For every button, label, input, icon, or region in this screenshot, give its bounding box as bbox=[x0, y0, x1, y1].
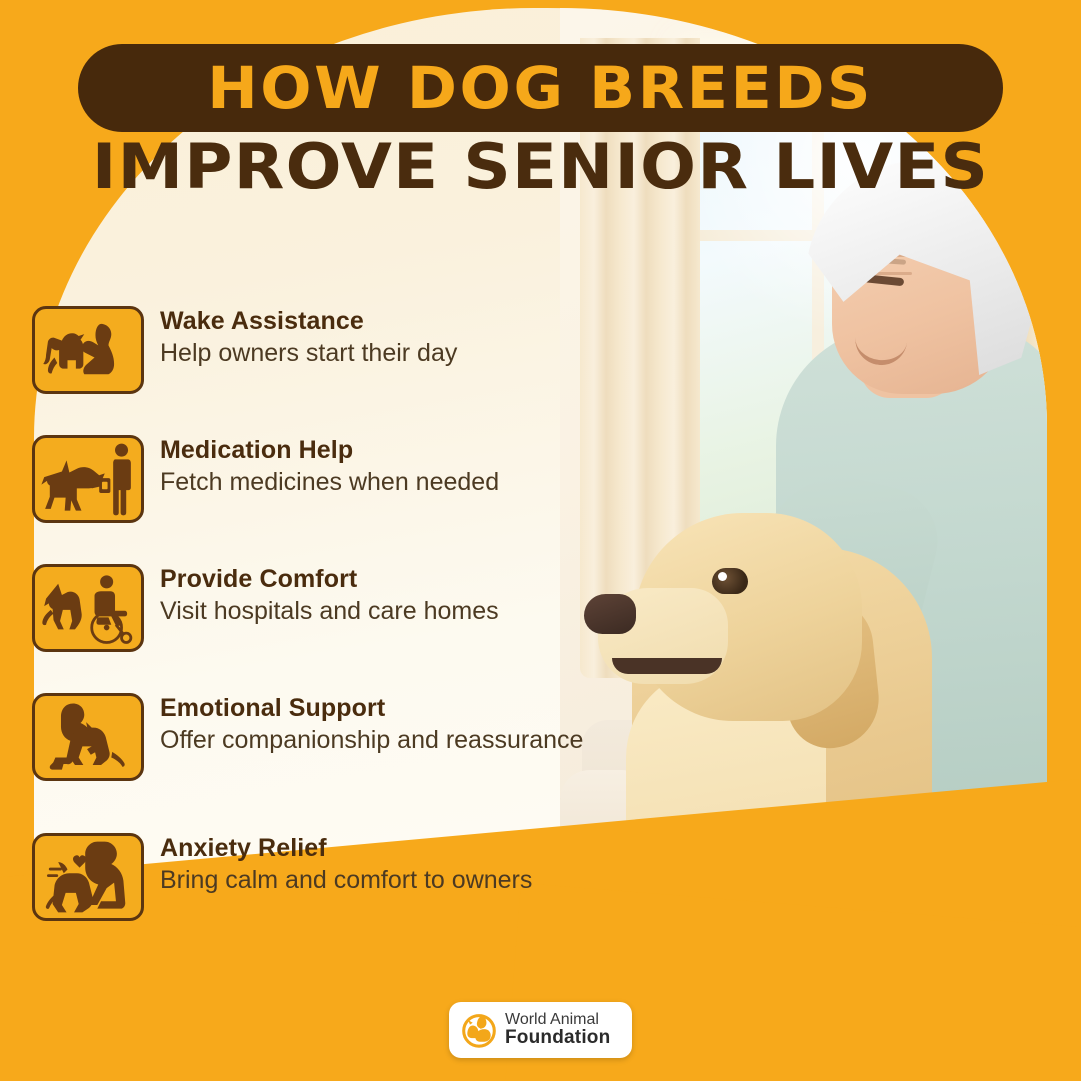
logo-text: World Animal Foundation bbox=[505, 1012, 610, 1048]
dog-fetching-medicine-icon bbox=[32, 435, 144, 523]
logo-line-2: Foundation bbox=[505, 1028, 610, 1047]
feature-description: Fetch medicines when needed bbox=[160, 468, 499, 498]
dog-eye-highlight bbox=[718, 572, 727, 581]
feature-title: Medication Help bbox=[160, 437, 499, 465]
dog-sitting-with-person-icon bbox=[32, 306, 144, 394]
feature-description: Help owners start their day bbox=[160, 339, 457, 369]
dog-mouth bbox=[612, 658, 722, 674]
feature-item-wake-assistance[interactable]: Wake Assistance Help owners start their … bbox=[32, 306, 457, 394]
feature-description: Bring calm and comfort to owners bbox=[160, 866, 532, 896]
dog-cat-circle-logo-icon bbox=[461, 1012, 497, 1048]
feature-title: Anxiety Relief bbox=[160, 835, 532, 863]
feature-item-medication-help[interactable]: Medication Help Fetch medicines when nee… bbox=[32, 435, 499, 523]
dog-nose bbox=[584, 594, 636, 634]
dog-with-wheelchair-user-icon bbox=[32, 564, 144, 652]
dog-eye bbox=[712, 568, 748, 594]
logo-badge[interactable]: World Animal Foundation bbox=[449, 1002, 632, 1058]
feature-description: Offer companionship and reassurance bbox=[160, 726, 583, 756]
person-hugging-dog-icon bbox=[32, 693, 144, 781]
page-title-line2: IMPROVE SENIOR LIVES bbox=[0, 136, 1081, 198]
feature-item-anxiety-relief[interactable]: Anxiety Relief Bring calm and comfort to… bbox=[32, 833, 532, 921]
feature-title: Emotional Support bbox=[160, 695, 583, 723]
title-pill: HOW DOG BREEDS bbox=[78, 44, 1003, 132]
dog-and-person-heart-icon bbox=[32, 833, 144, 921]
logo-line-1: World Animal bbox=[505, 1012, 610, 1028]
feature-title: Provide Comfort bbox=[160, 566, 499, 594]
feature-description: Visit hospitals and care homes bbox=[160, 597, 499, 627]
infographic-poster: HOW DOG BREEDS IMPROVE SENIOR LIVES Wake… bbox=[0, 0, 1081, 1081]
page-title-line1: HOW DOG BREEDS bbox=[208, 59, 874, 117]
feature-title: Wake Assistance bbox=[160, 308, 457, 336]
feature-item-provide-comfort[interactable]: Provide Comfort Visit hospitals and care… bbox=[32, 564, 499, 652]
feature-item-emotional-support[interactable]: Emotional Support Offer companionship an… bbox=[32, 693, 583, 781]
